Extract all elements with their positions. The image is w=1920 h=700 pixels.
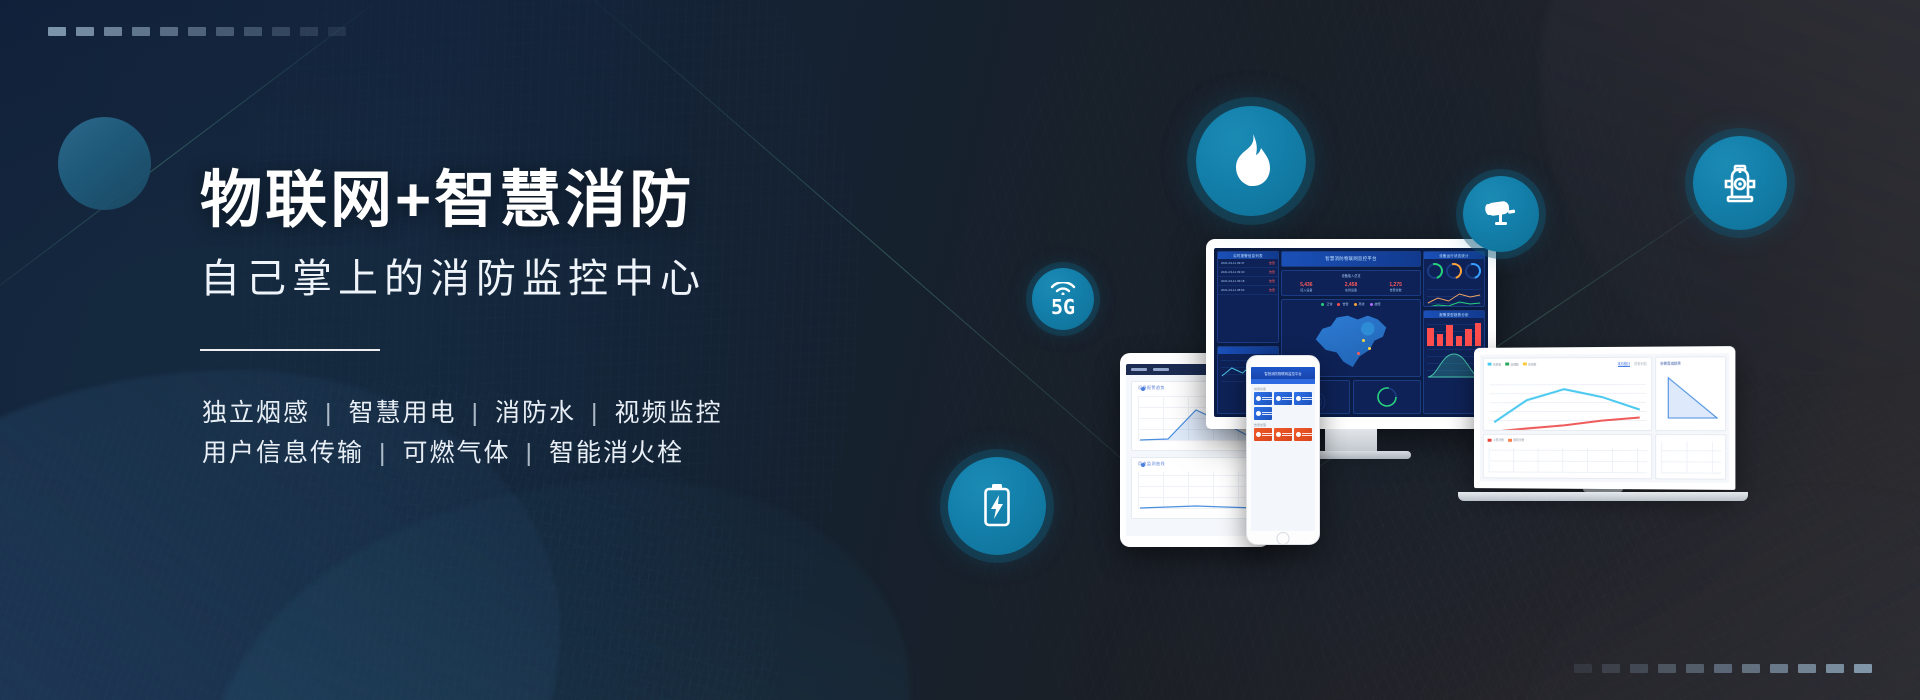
feature-item: 智慧用电 bbox=[347, 393, 459, 434]
tile-label bbox=[1262, 397, 1273, 401]
device-mockup-cluster: 设备报警趋势 用电监测曲线 bbox=[1120, 285, 1800, 585]
tile-icon bbox=[1256, 411, 1261, 416]
status-badge: 告警 bbox=[1269, 270, 1275, 274]
legend-swatch bbox=[1505, 363, 1509, 366]
page-subtitle: 自己掌上的消防监控中心 bbox=[200, 255, 880, 303]
chart-marker-icon bbox=[1141, 463, 1145, 467]
laptop-bottom-card-1: 火警次数故障次数 bbox=[1483, 434, 1652, 479]
legend-swatch bbox=[1321, 303, 1324, 306]
badge-battery[interactable] bbox=[948, 457, 1046, 555]
phone-section-2-label: 告警处理 bbox=[1251, 420, 1315, 428]
legend-swatch bbox=[1354, 303, 1357, 306]
corner-dash-strip-top-left bbox=[48, 27, 346, 36]
legend-item: 正常 bbox=[1321, 302, 1332, 306]
title-divider bbox=[200, 349, 380, 351]
trend-bar-chart bbox=[1427, 320, 1481, 346]
table-row[interactable]: 2021-03-11 09:33告警 bbox=[1218, 268, 1278, 277]
kpi-card: 设备接入总览 5,436接入设备2,458在线设备1,275告警总数 bbox=[1281, 270, 1421, 296]
decorative-dash bbox=[48, 27, 66, 36]
decorative-dash bbox=[1798, 664, 1816, 673]
table-row[interactable]: 2021-03-11 09:18告警 bbox=[1218, 277, 1278, 286]
decorative-dash bbox=[244, 27, 262, 36]
laptop-side-card-title: 告警衰减趋势 bbox=[1656, 357, 1725, 365]
laptop-chart-tabs[interactable]: 本月统计历史对比 bbox=[1617, 358, 1651, 367]
hero-copy: 物联网+智慧消防 自己掌上的消防监控中心 独立烟感|智慧用电|消防水|视频监控 … bbox=[200, 168, 880, 474]
alert-time: 2021-03-11 09:18 bbox=[1221, 279, 1244, 283]
phone-tile[interactable] bbox=[1254, 428, 1272, 441]
legend-swatch bbox=[1508, 438, 1512, 441]
hero-banner: 物联网+智慧消防 自己掌上的消防监控中心 独立烟感|智慧用电|消防水|视频监控 … bbox=[0, 0, 1920, 700]
kpi-label: 接入设备 bbox=[1300, 288, 1313, 292]
china-map-shape bbox=[1309, 309, 1393, 375]
feature-list: 独立烟感|智慧用电|消防水|视频监控 用户信息传输|可燃气体|智能消火栓 bbox=[200, 393, 880, 474]
legend-item: 故障 bbox=[1370, 302, 1381, 306]
card-header: 智慧消防物联网监控平台 bbox=[1282, 252, 1420, 266]
decorative-dash bbox=[328, 27, 346, 36]
laptop-side-area-chart bbox=[1662, 373, 1723, 422]
feature-row-1: 独立烟感|智慧用电|消防水|视频监控 bbox=[200, 393, 880, 434]
alert-time: 2021-03-11 09:47 bbox=[1221, 261, 1244, 265]
feature-separator: | bbox=[459, 393, 494, 434]
map-legend: 正常告警离线故障 bbox=[1282, 300, 1420, 308]
phone-tile[interactable] bbox=[1274, 428, 1292, 441]
laptop-side-card: 告警衰减趋势 bbox=[1655, 356, 1726, 431]
tile-label bbox=[1262, 433, 1273, 437]
tile-icon bbox=[1276, 396, 1281, 401]
legend-item: 火警次数 bbox=[1488, 438, 1504, 442]
feature-item: 用户信息传输 bbox=[200, 433, 366, 474]
decorative-dash bbox=[216, 27, 234, 36]
decorative-circle bbox=[58, 117, 151, 210]
gauge-alert bbox=[1446, 263, 1462, 279]
status-badge: 告警 bbox=[1269, 288, 1275, 292]
ring-chart bbox=[1374, 384, 1400, 410]
kpi-row: 5,436接入设备2,458在线设备1,275告警总数 bbox=[1282, 278, 1420, 296]
badge-flame[interactable] bbox=[1196, 106, 1306, 216]
card-header bbox=[1218, 347, 1278, 354]
corner-dash-strip-bottom-right bbox=[1574, 664, 1872, 673]
wifi-signal-icon bbox=[1050, 282, 1076, 295]
legend-swatch bbox=[1488, 363, 1492, 366]
feature-separator: | bbox=[312, 393, 347, 434]
phone-tile[interactable] bbox=[1294, 392, 1312, 405]
gauge-row bbox=[1424, 259, 1484, 283]
laptop-overlay-lines bbox=[1490, 378, 1646, 431]
monitor-stand bbox=[1325, 429, 1377, 451]
legend-item: 处理数 bbox=[1505, 362, 1519, 366]
badge-hydrant[interactable] bbox=[1693, 136, 1787, 230]
tile-icon bbox=[1256, 432, 1261, 437]
decorative-dash bbox=[1826, 664, 1844, 673]
battery-bolt-icon bbox=[979, 481, 1015, 531]
decorative-dash bbox=[1602, 664, 1620, 673]
phone-header: 智慧消防物联网监控平台 bbox=[1251, 367, 1315, 379]
laptop-bottom-card-2 bbox=[1655, 434, 1726, 480]
phone-screen: 智慧消防物联网监控平台 常用功能 告警处理 bbox=[1251, 367, 1315, 531]
feature-separator: | bbox=[366, 433, 401, 474]
laptop-mockup[interactable]: 告警数处理数在线数 本月统计历史对比 bbox=[1472, 347, 1734, 519]
tile-icon bbox=[1296, 396, 1301, 401]
map-hotspot bbox=[1357, 352, 1360, 355]
tile-icon bbox=[1256, 396, 1261, 401]
card-header: 设备运行状态统计 bbox=[1424, 252, 1484, 259]
decorative-dash bbox=[104, 27, 122, 36]
kpi-label: 在线设备 bbox=[1345, 288, 1358, 292]
chart-marker-icon bbox=[1141, 387, 1145, 391]
table-row[interactable]: 2021-03-11 09:47告警 bbox=[1218, 259, 1278, 268]
trend-card-title: 报警类型趋势分析 bbox=[1439, 312, 1469, 317]
kpi-label: 告警总数 bbox=[1389, 288, 1402, 292]
gauge-health bbox=[1465, 263, 1481, 279]
tablet-chart-card-2: 用电监测曲线 bbox=[1131, 457, 1259, 519]
chart-gridlines bbox=[1661, 441, 1721, 474]
decorative-dash bbox=[1770, 664, 1788, 673]
alert-list-title: 实时报警信息列表 bbox=[1233, 253, 1263, 258]
gauge-card-sparkline bbox=[1427, 285, 1481, 307]
gauge-card: 设备运行状态统计 bbox=[1423, 251, 1485, 307]
decorative-dash bbox=[160, 27, 178, 36]
gauge-online bbox=[1427, 263, 1443, 279]
feature-item: 智能消火栓 bbox=[547, 433, 686, 474]
dashboard-title: 智慧消防物联网监控平台 bbox=[1325, 256, 1377, 262]
tile-label bbox=[1282, 397, 1293, 401]
decorative-dash bbox=[1574, 664, 1592, 673]
feature-item: 可燃气体 bbox=[401, 433, 513, 474]
laptop-screen: 告警数处理数在线数 本月统计历史对比 bbox=[1480, 353, 1729, 483]
decorative-dash bbox=[1742, 664, 1760, 673]
phone-tile[interactable] bbox=[1254, 407, 1272, 420]
alert-time: 2021-03-11 08:52 bbox=[1221, 288, 1244, 292]
legend-swatch bbox=[1488, 438, 1492, 441]
kpi-item: 1,275告警总数 bbox=[1389, 282, 1402, 292]
legend-swatch bbox=[1370, 303, 1373, 306]
card-header: 报警类型趋势分析 bbox=[1424, 311, 1484, 318]
phone-home-button[interactable] bbox=[1277, 532, 1290, 545]
alert-time: 2021-03-11 09:33 bbox=[1221, 270, 1244, 274]
phone-mockup[interactable]: 智慧消防物联网监控平台 常用功能 告警处理 bbox=[1246, 355, 1320, 545]
tile-icon bbox=[1276, 432, 1281, 437]
dashboard-title-bar: 智慧消防物联网监控平台 bbox=[1281, 251, 1421, 267]
alert-list-card: 实时报警信息列表 2021-03-11 09:47告警2021-03-11 09… bbox=[1217, 251, 1279, 343]
camera-icon bbox=[1481, 197, 1521, 231]
decorative-dash bbox=[1854, 664, 1872, 673]
decorative-dash bbox=[300, 27, 318, 36]
legend-item: 告警数 bbox=[1488, 362, 1502, 366]
tile-label bbox=[1302, 433, 1313, 437]
feature-item: 视频监控 bbox=[613, 393, 725, 434]
phone-header-title: 智慧消防物联网监控平台 bbox=[1264, 371, 1301, 376]
decorative-dash bbox=[1714, 664, 1732, 673]
feature-separator: | bbox=[513, 433, 548, 474]
page-title: 物联网+智慧消防 bbox=[200, 168, 880, 235]
badge-5g[interactable]: 5G bbox=[1032, 268, 1094, 330]
tile-label bbox=[1302, 397, 1313, 401]
phone-tile[interactable] bbox=[1254, 392, 1272, 405]
tile-label bbox=[1262, 412, 1273, 416]
gauge-card-title: 设备运行状态统计 bbox=[1439, 253, 1469, 258]
legend-item: 告警 bbox=[1337, 302, 1348, 306]
decorative-dash bbox=[272, 27, 290, 36]
alert-list-rows: 2021-03-11 09:47告警2021-03-11 09:33告警2021… bbox=[1218, 259, 1278, 295]
phone-section-1-label: 常用功能 bbox=[1251, 384, 1315, 392]
laptop-chart-legend: 告警数处理数在线数 bbox=[1484, 360, 1537, 366]
hydrant-icon bbox=[1718, 159, 1762, 207]
laptop-lid: 告警数处理数在线数 本月统计历史对比 bbox=[1474, 346, 1735, 490]
legend-item: 在线数 bbox=[1523, 362, 1537, 366]
badge-camera[interactable] bbox=[1463, 176, 1539, 252]
card-header: 实时报警信息列表 bbox=[1218, 252, 1278, 259]
legend-swatch bbox=[1337, 303, 1340, 306]
decorative-dash bbox=[1630, 664, 1648, 673]
legend-item: 离线 bbox=[1354, 302, 1365, 306]
phone-tile[interactable] bbox=[1274, 392, 1292, 405]
status-badge: 告警 bbox=[1269, 279, 1275, 283]
phone-tile-grid-blue bbox=[1251, 392, 1315, 420]
ring-card bbox=[1353, 380, 1422, 414]
laptop-chart-tab[interactable]: 历史对比 bbox=[1634, 361, 1647, 367]
decorative-dash bbox=[1686, 664, 1704, 673]
decorative-dash bbox=[76, 27, 94, 36]
laptop-bottom-legend: 火警次数故障次数 bbox=[1484, 435, 1651, 442]
flame-icon bbox=[1225, 132, 1277, 190]
tile-icon bbox=[1296, 432, 1301, 437]
feature-separator: | bbox=[578, 393, 613, 434]
phone-tile[interactable] bbox=[1294, 428, 1312, 441]
laptop-chart-tab[interactable]: 本月统计 bbox=[1617, 361, 1630, 367]
table-row[interactable]: 2021-03-11 08:52告警 bbox=[1218, 286, 1278, 295]
status-badge: 告警 bbox=[1269, 261, 1275, 265]
decorative-dash bbox=[1658, 664, 1676, 673]
kpi-item: 5,436接入设备 bbox=[1300, 282, 1313, 292]
decorative-dash bbox=[132, 27, 150, 36]
legend-swatch bbox=[1523, 362, 1527, 365]
tile-label bbox=[1282, 433, 1293, 437]
decorative-dash bbox=[188, 27, 206, 36]
feature-row-2: 用户信息传输|可燃气体|智能消火栓 bbox=[200, 433, 880, 474]
chart-gridlines bbox=[1489, 448, 1647, 474]
legend-item: 故障次数 bbox=[1508, 438, 1524, 442]
feature-item: 消防水 bbox=[493, 393, 578, 434]
kpi-item: 2,458在线设备 bbox=[1345, 282, 1358, 292]
feature-item: 独立烟感 bbox=[200, 393, 312, 434]
kpi-card-title: 设备接入总览 bbox=[1282, 271, 1420, 278]
phone-tile-grid-orange bbox=[1251, 428, 1315, 441]
background-blob bbox=[210, 480, 910, 700]
laptop-base bbox=[1458, 492, 1748, 501]
laptop-bar-chart-card: 告警数处理数在线数 本月统计历史对比 bbox=[1483, 357, 1652, 431]
badge-5g-label: 5G bbox=[1051, 297, 1075, 317]
